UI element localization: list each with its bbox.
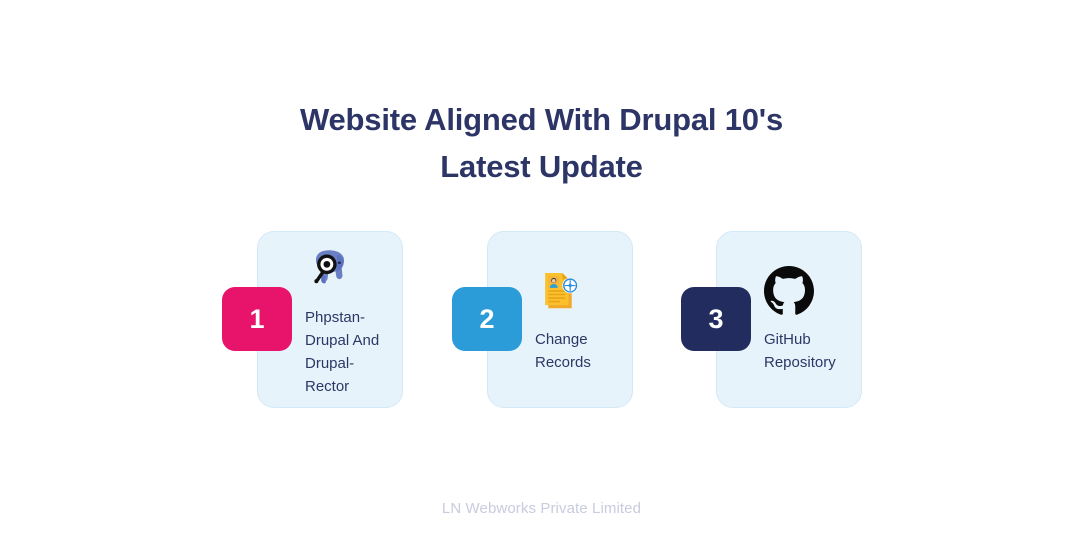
card-item-1[interactable]: Phpstan-Drupal And Drupal-Rector 1 xyxy=(257,231,403,408)
card-label: Change Records xyxy=(535,328,626,374)
card-content: GitHub Repository xyxy=(764,232,855,407)
page-title-line-1: Website Aligned With Drupal 10's xyxy=(0,96,1083,143)
card-number: 1 xyxy=(249,306,264,333)
card-content: Phpstan-Drupal And Drupal-Rector xyxy=(305,232,396,407)
card-item-3[interactable]: GitHub Repository 3 xyxy=(716,231,862,408)
card-number: 2 xyxy=(479,306,494,333)
card-item-2[interactable]: Change Records 2 xyxy=(487,231,633,408)
github-octocat-icon xyxy=(764,266,814,316)
card-number-badge: 2 xyxy=(452,287,522,351)
page-title-line-2: Latest Update xyxy=(0,143,1083,190)
phpstan-elephant-icon xyxy=(305,244,355,294)
page-title: Website Aligned With Drupal 10's Latest … xyxy=(0,96,1083,190)
footer-company-name: LN Webworks Private Limited xyxy=(0,500,1083,517)
card-list: Phpstan-Drupal And Drupal-Rector 1 xyxy=(0,231,1083,411)
change-records-document-icon xyxy=(535,266,585,316)
card-content: Change Records xyxy=(535,232,626,407)
card-label: GitHub Repository xyxy=(764,328,855,374)
card-label: Phpstan-Drupal And Drupal-Rector xyxy=(305,306,396,398)
card-number: 3 xyxy=(708,306,723,333)
slide-root: Website Aligned With Drupal 10's Latest … xyxy=(0,0,1083,543)
card-number-badge: 1 xyxy=(222,287,292,351)
card-number-badge: 3 xyxy=(681,287,751,351)
